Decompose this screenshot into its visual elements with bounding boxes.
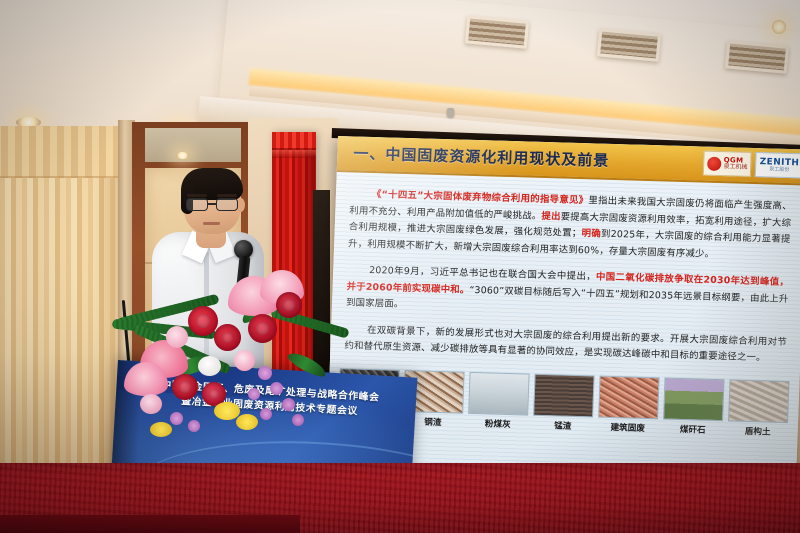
thumbnail-caption: 煤矸石: [663, 422, 723, 436]
rose-flower: [172, 374, 198, 400]
orchid-spray: [282, 398, 295, 411]
qgm-logo: QGM 泉工机械: [703, 151, 752, 177]
slide-logos: QGM 泉工机械 ZENITH 泉工股份: [703, 151, 800, 179]
air-vent-3: [725, 40, 789, 74]
air-vent-2: [597, 28, 661, 62]
thumbnail-item: 粉煤灰: [468, 372, 530, 431]
slide-body: 《“十四五”大宗固体废弃物综合利用的指导意见》里指出未来我国大宗固废仍将面临产生…: [330, 174, 800, 368]
orchid-spray: [260, 408, 272, 420]
zenith-sub: 泉工股份: [769, 167, 789, 173]
thumbnail-image: [598, 376, 659, 420]
rose-flower: [188, 306, 218, 336]
pink-rose: [234, 350, 255, 371]
yellow-filler: [236, 414, 258, 430]
flower-arrangement: [110, 262, 350, 452]
thumbnail-caption: 盾构土: [728, 424, 788, 438]
eyeglass-lens-left: [186, 198, 208, 211]
white-rose: [198, 356, 221, 376]
thumbnail-item: 建筑固废: [598, 376, 660, 435]
qgm-logo-mark: [707, 156, 721, 170]
air-vent-1: [465, 15, 529, 49]
eyeglass-bridge: [208, 203, 216, 205]
rose-flower: [214, 324, 241, 351]
highlighted-text: 明确: [581, 228, 601, 240]
highlighted-text: 提出: [541, 210, 561, 222]
speaker-eyebrow-right: [217, 194, 237, 197]
rose-flower: [276, 292, 302, 318]
pink-rose: [140, 394, 162, 414]
thumbnail-caption: 锰渣: [533, 419, 593, 433]
thumbnail-item: 锰渣: [533, 374, 595, 433]
thumbnail-caption: 粉煤灰: [468, 417, 528, 431]
qgm-logo-text: QGM 泉工机械: [723, 157, 747, 171]
slide-paragraph-1: 《“十四五”大宗固体废弃物综合利用的指导意见》里指出未来我国大宗固废仍将面临产生…: [334, 186, 800, 265]
sprinkler-head: [447, 108, 454, 117]
pink-rose: [166, 326, 188, 348]
thumbnail-item: 煤矸石: [663, 377, 725, 436]
yellow-filler: [150, 422, 172, 437]
eyeglasses-icon: [186, 198, 240, 211]
foliage-leaf: [285, 349, 328, 380]
orchid-spray: [170, 412, 183, 425]
body-text: 2020年9月，习近平总书记也在联合国大会中提出，: [369, 265, 596, 283]
highlighted-text: 《“十四五”大宗固体废弃物综合利用的指导意见》: [372, 189, 589, 206]
eyeglass-lens-right: [216, 198, 238, 211]
qgm-sub: 泉工机械: [723, 164, 747, 171]
orchid-spray: [258, 366, 272, 380]
slide-paragraph-2: 2020年9月，习近平总书记也在联合国大会中提出，中国二氧化碳排放争取在2030…: [332, 262, 800, 325]
thumbnail-image: [663, 377, 724, 421]
thumbnail-image: [533, 374, 594, 418]
carpet-foreground: [0, 515, 300, 533]
orchid-spray: [188, 420, 200, 432]
red-drape-header: [272, 132, 316, 150]
speaker-mouth: [203, 222, 220, 225]
ceiling-spot-right: [772, 20, 786, 34]
wall-washer-light: [176, 152, 189, 159]
orchid-spray: [248, 388, 260, 400]
wall-panel-transom: [145, 128, 241, 162]
thumbnail-item: 盾构土: [728, 379, 790, 438]
thumbnail-caption: 建筑固废: [598, 421, 658, 435]
slide-title: 一、中国固废资源化利用现状及前景: [353, 142, 610, 170]
thumbnail-image: [728, 379, 789, 423]
orchid-spray: [292, 414, 304, 426]
speaker-eyebrow-left: [187, 194, 207, 197]
orchid-spray: [270, 382, 283, 395]
red-drape-gather: [272, 150, 316, 158]
rose-flower: [248, 314, 277, 343]
zenith-logo: ZENITH 泉工股份: [755, 152, 800, 178]
thumbnail-image: [468, 372, 529, 416]
conference-photo-scene: 一、中国固废资源化利用现状及前景 QGM 泉工机械 ZENITH 泉工股份 《“…: [0, 0, 800, 533]
yellow-filler: [214, 402, 240, 420]
